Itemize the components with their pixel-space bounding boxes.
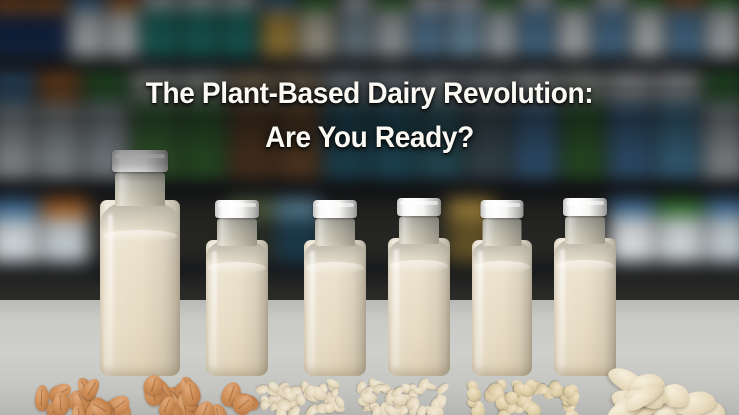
bottle-milk-line (306, 262, 363, 274)
bottle-3 (304, 200, 366, 376)
bottle-2 (206, 200, 268, 376)
almond-left (52, 392, 69, 415)
bottle-body (206, 240, 268, 376)
bottle-neck (483, 218, 522, 246)
bottle-milk-line (390, 260, 447, 272)
bottle-cap (313, 200, 357, 218)
bottle-neck (565, 216, 605, 244)
bottle-milk-line (208, 262, 265, 274)
bottle-cap (563, 198, 607, 216)
bottle-cap (215, 200, 259, 218)
bottle-neck (315, 218, 355, 246)
bottle-highlight (212, 251, 217, 368)
bottle-milk-line (103, 230, 177, 242)
bottle-highlight (394, 249, 399, 368)
headline-scrim (0, 62, 739, 182)
bottle-body (554, 238, 616, 376)
bottle-body (304, 240, 366, 376)
bottle-5 (472, 200, 532, 376)
bottle-milk-line (556, 260, 613, 272)
bottle-highlight (478, 251, 483, 368)
bottle-cap (481, 200, 524, 218)
bottle-body (472, 240, 532, 376)
bottle-4 (388, 198, 450, 376)
bottle-tall-front (100, 150, 180, 376)
bottle-cap (397, 198, 441, 216)
bottle-body (100, 200, 180, 376)
bottle-neck (399, 216, 439, 244)
bottle-highlight (310, 251, 315, 368)
bottle-highlight (560, 249, 565, 368)
bottle-highlight (108, 214, 113, 365)
bottle-body (388, 238, 450, 376)
banner-image: The Plant-Based Dairy Revolution: Are Yo… (0, 0, 739, 415)
bottle-6 (554, 198, 616, 376)
bottle-neck (217, 218, 257, 246)
oat-flake-center (305, 385, 314, 398)
